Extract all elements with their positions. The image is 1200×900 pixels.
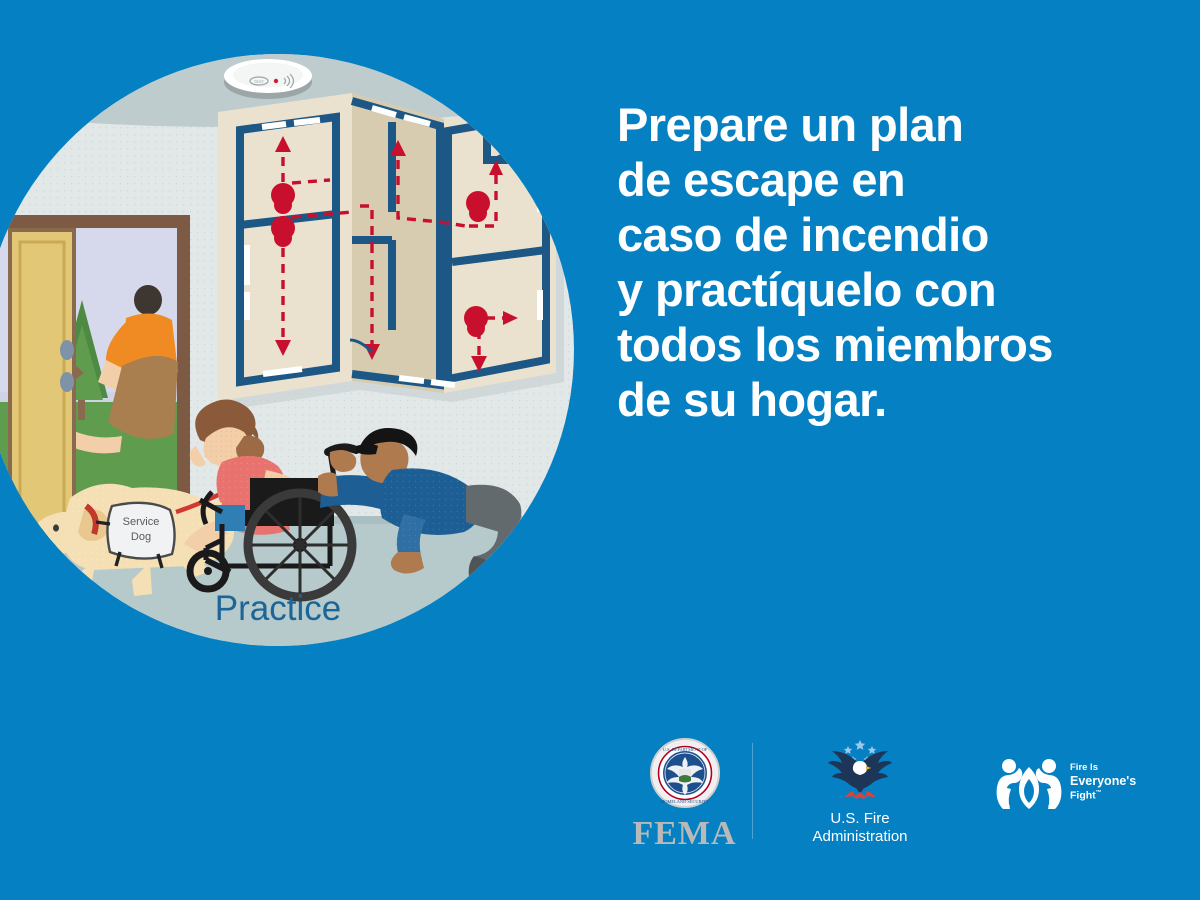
door-handle: [60, 340, 74, 360]
logo-divider: [752, 743, 753, 839]
map-panel-right: [444, 99, 556, 393]
poster-canvas: TEST: [0, 0, 1200, 900]
scene-group: TEST: [0, 0, 600, 700]
fief-line1: Fire Is: [1070, 762, 1136, 775]
fief-figures-icon: [995, 753, 1063, 811]
fief-line2: Everyone's: [1070, 775, 1136, 788]
seal-text-top: U.S. DEPARTMENT OF: [662, 747, 707, 752]
door-lock: [60, 372, 74, 392]
illustration-caption: Practice: [215, 589, 341, 628]
dog-eye: [53, 524, 59, 531]
vest-text-line2: Dog: [131, 531, 151, 543]
illustration-circle: TEST: [0, 0, 600, 700]
wheelchair-rear-wheel: [248, 493, 352, 597]
fief-line3: Fight: [1070, 790, 1096, 802]
dhs-seal-icon: U.S. DEPARTMENT OF HOMELAND SECURITY: [649, 737, 721, 809]
usfa-line1: U.S. Fire: [780, 810, 940, 828]
headline-text: Prepare un plan de escape en caso de inc…: [617, 97, 1157, 427]
svg-text:TEST: TEST: [254, 79, 265, 84]
fema-logo: U.S. DEPARTMENT OF HOMELAND SECURITY FEM…: [612, 737, 757, 852]
usfa-line2: Administration: [780, 828, 940, 846]
smoke-alarm-icon: TEST: [224, 59, 312, 99]
usfa-logo: U.S. Fire Administration: [780, 737, 940, 846]
fema-wordmark: FEMA: [612, 816, 757, 852]
man-hand-floor: [391, 552, 424, 574]
escape-plan-map: [218, 93, 564, 410]
fief-trademark: ™: [1096, 790, 1102, 796]
seal-text-bottom: HOMELAND SECURITY: [661, 799, 710, 804]
logo-strip: U.S. DEPARTMENT OF HOMELAND SECURITY FEM…: [600, 735, 1200, 865]
usfa-eagle-icon: [817, 737, 903, 803]
vest-text-line1: Service: [123, 516, 160, 528]
dog-snout: [22, 534, 30, 543]
usfa-flames: [845, 791, 875, 799]
fire-is-everyones-fight-logo: Fire Is Everyone's Fight™: [995, 753, 1195, 811]
